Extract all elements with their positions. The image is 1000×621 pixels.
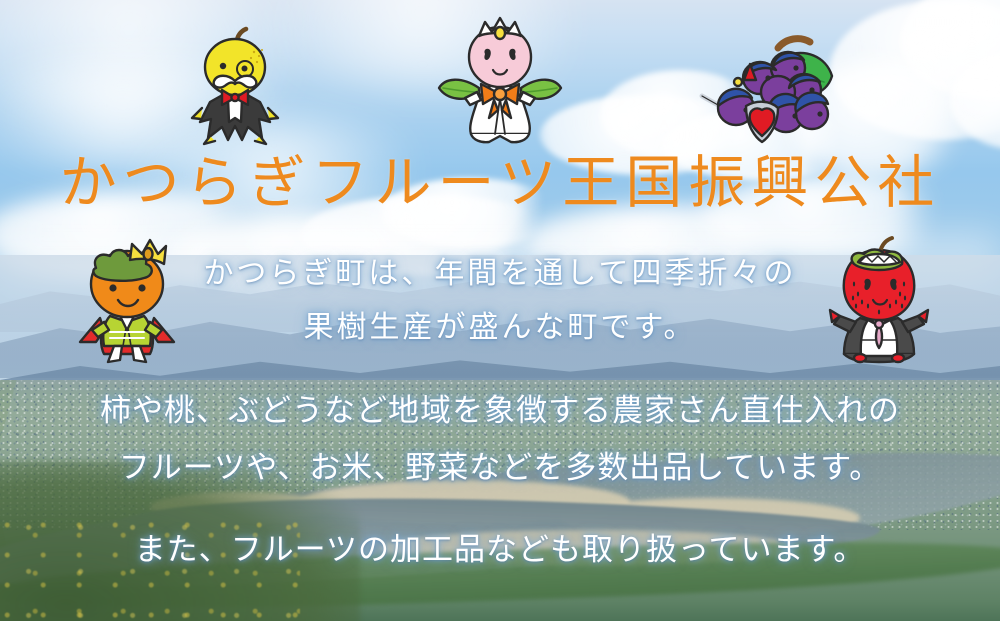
page-title: かつらぎフルーツ王国振興公社 — [0, 155, 1000, 212]
subtitle-line-2: 果樹生産が盛んな町です。 — [0, 302, 1000, 346]
mascot-peach-princess — [437, 12, 563, 154]
subtitle-line-1: かつらぎ町は、年間を通して四季折々の — [0, 248, 1000, 292]
hero-banner: かつらぎフルーツ王国振興公社 かつらぎ町は、年間を通して四季折々の 果樹生産が盛… — [0, 0, 1000, 621]
body-line-1: 柿や桃、ぶどうなど地域を象徴する農家さん直仕入れの — [0, 385, 1000, 430]
mascot-pear-gentleman — [184, 26, 286, 146]
body-line-3: また、フルーツの加工品なども取り扱っています。 — [0, 524, 1000, 569]
body-line-2: フルーツや、お米、野菜などを多数出品しています。 — [0, 442, 1000, 487]
mascot-grape-knight — [700, 34, 840, 146]
